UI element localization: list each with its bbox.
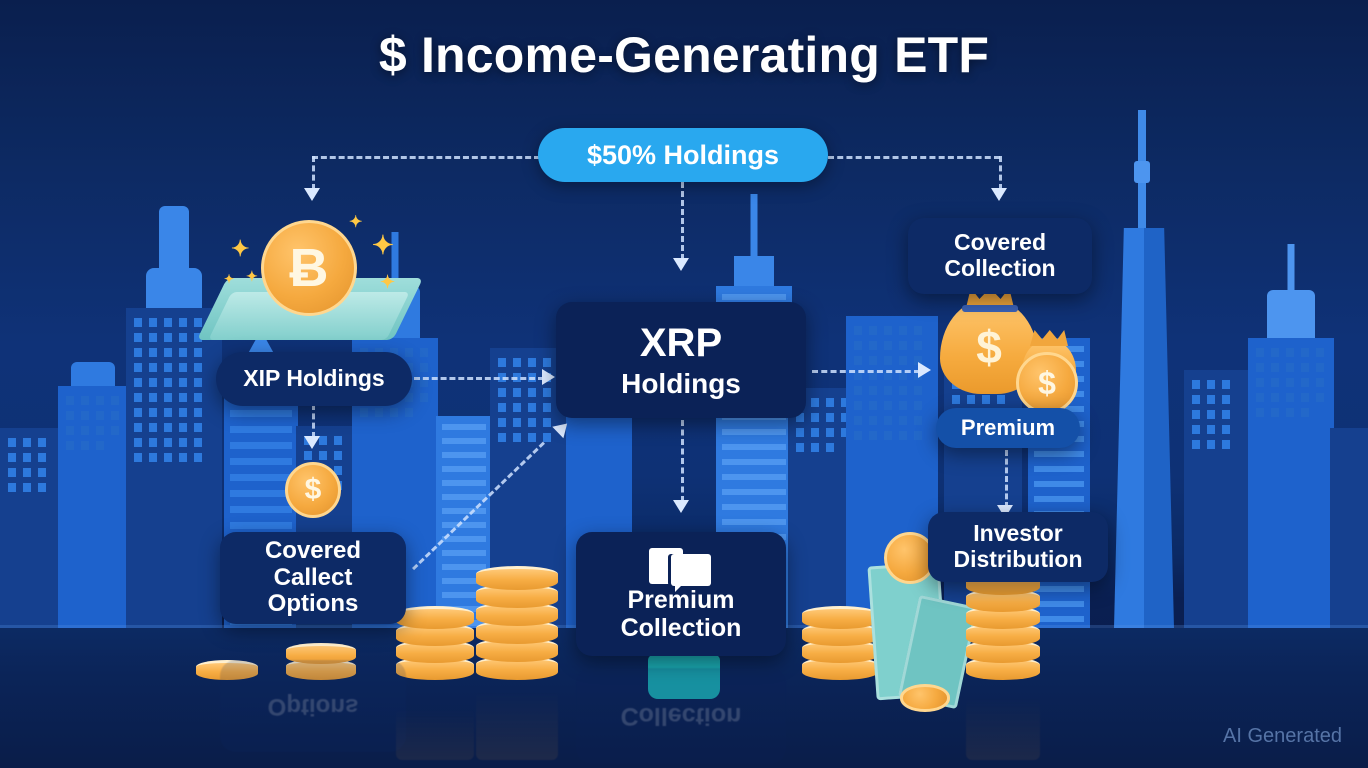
dollar-coin-large-icon: $ — [1016, 352, 1078, 414]
money-bag-dollar: $ — [976, 320, 1002, 374]
sparkle-icon: ✦ — [224, 272, 234, 286]
building — [1184, 370, 1248, 638]
connector-badge-to-left — [312, 156, 540, 159]
building — [1248, 338, 1334, 638]
badge-holdings[interactable]: $50% Holdings — [538, 128, 828, 182]
arrow-down-left — [304, 188, 320, 201]
arrow-down-collection — [673, 500, 689, 513]
sparkle-icon: ✦ — [349, 212, 362, 232]
connector-right-down — [999, 156, 1002, 190]
spire-ring — [1134, 161, 1150, 183]
coin-stack-5 — [802, 600, 878, 680]
teal-block-icon — [648, 655, 720, 699]
bitcoin-coin-icon: Ƀ — [261, 220, 357, 316]
infographic-canvas: $ Income-Generating ETF Ƀ ✦ ✦ ✦ ✦ ✦ ✦ $ … — [0, 0, 1368, 768]
sparkle-icon: ✦ — [231, 236, 249, 262]
sparkle-icon: ✦ — [372, 230, 394, 261]
building — [126, 308, 222, 638]
node-xrp-holdings[interactable]: XRP Holdings — [556, 302, 806, 418]
building — [1330, 428, 1368, 638]
node-covered-call-options-line3: Options — [268, 591, 359, 618]
connector-badge-to-xrp — [681, 182, 684, 260]
building — [0, 428, 62, 638]
arrow-right-premium — [918, 362, 931, 378]
coin-stack-4 — [476, 548, 558, 680]
document-icon — [649, 548, 713, 592]
badge-label: $50% Holdings — [587, 140, 779, 171]
coin-stack-1 — [196, 658, 258, 680]
node-xrp-holdings-line2: Holdings — [621, 368, 741, 399]
coin-stack-3 — [396, 598, 474, 680]
arrow-down-coin — [304, 436, 320, 449]
coin-stack-2 — [286, 638, 356, 680]
building — [58, 386, 128, 638]
connector-xrp-to-collection — [681, 420, 684, 502]
node-covered-collection-line2: Collection — [944, 256, 1055, 282]
node-covered-collection-line1: Covered — [954, 230, 1046, 256]
page-title: $ Income-Generating ETF — [0, 26, 1368, 84]
dollar-coin-icon: $ — [285, 462, 341, 518]
building-one-wtc — [1108, 228, 1180, 638]
node-covered-call-options[interactable]: Covered Callect Options — [220, 532, 406, 624]
node-premium-collection-line2: Collection — [621, 614, 742, 642]
node-premium-label: Premium — [961, 416, 1055, 441]
node-premium[interactable]: Premium — [936, 408, 1080, 448]
coin-front-icon — [900, 684, 950, 712]
arrow-right-xrp — [542, 369, 555, 385]
node-premium-collection[interactable]: Premium Collection — [576, 532, 786, 656]
node-xip-holdings[interactable]: XIP Holdings — [216, 352, 412, 406]
node-investor-distribution-line2: Distribution — [953, 547, 1082, 573]
node-covered-call-options-line1: Covered — [265, 538, 361, 565]
node-investor-distribution-line1: Investor — [973, 521, 1062, 547]
connector-xip-to-coin — [312, 404, 315, 438]
watermark: AI Generated — [1223, 725, 1342, 748]
node-xrp-holdings-line1: XRP — [640, 321, 722, 366]
node-investor-distribution[interactable]: Investor Distribution — [928, 512, 1108, 582]
node-xip-holdings-label: XIP Holdings — [243, 366, 384, 392]
sparkle-icon: ✦ — [246, 268, 258, 285]
connector-xip-to-xrp — [414, 377, 544, 380]
arrow-down-xrp — [673, 258, 689, 271]
dollar-symbol: $ — [305, 473, 322, 507]
sparkle-icon: ✦ — [380, 272, 395, 293]
connector-premium-to-investor — [1005, 450, 1008, 508]
bitcoin-symbol: Ƀ — [290, 237, 329, 299]
connector-badge-to-right — [828, 156, 1000, 159]
node-covered-call-options-line2: Callect — [274, 565, 353, 592]
money-bag-tie-icon — [962, 305, 1018, 312]
dollar-symbol: $ — [1038, 365, 1056, 402]
connector-xrp-to-premium — [812, 370, 920, 373]
connector-left-down — [312, 156, 315, 190]
node-covered-collection[interactable]: Covered Collection — [908, 218, 1092, 294]
arrow-down-right — [991, 188, 1007, 201]
